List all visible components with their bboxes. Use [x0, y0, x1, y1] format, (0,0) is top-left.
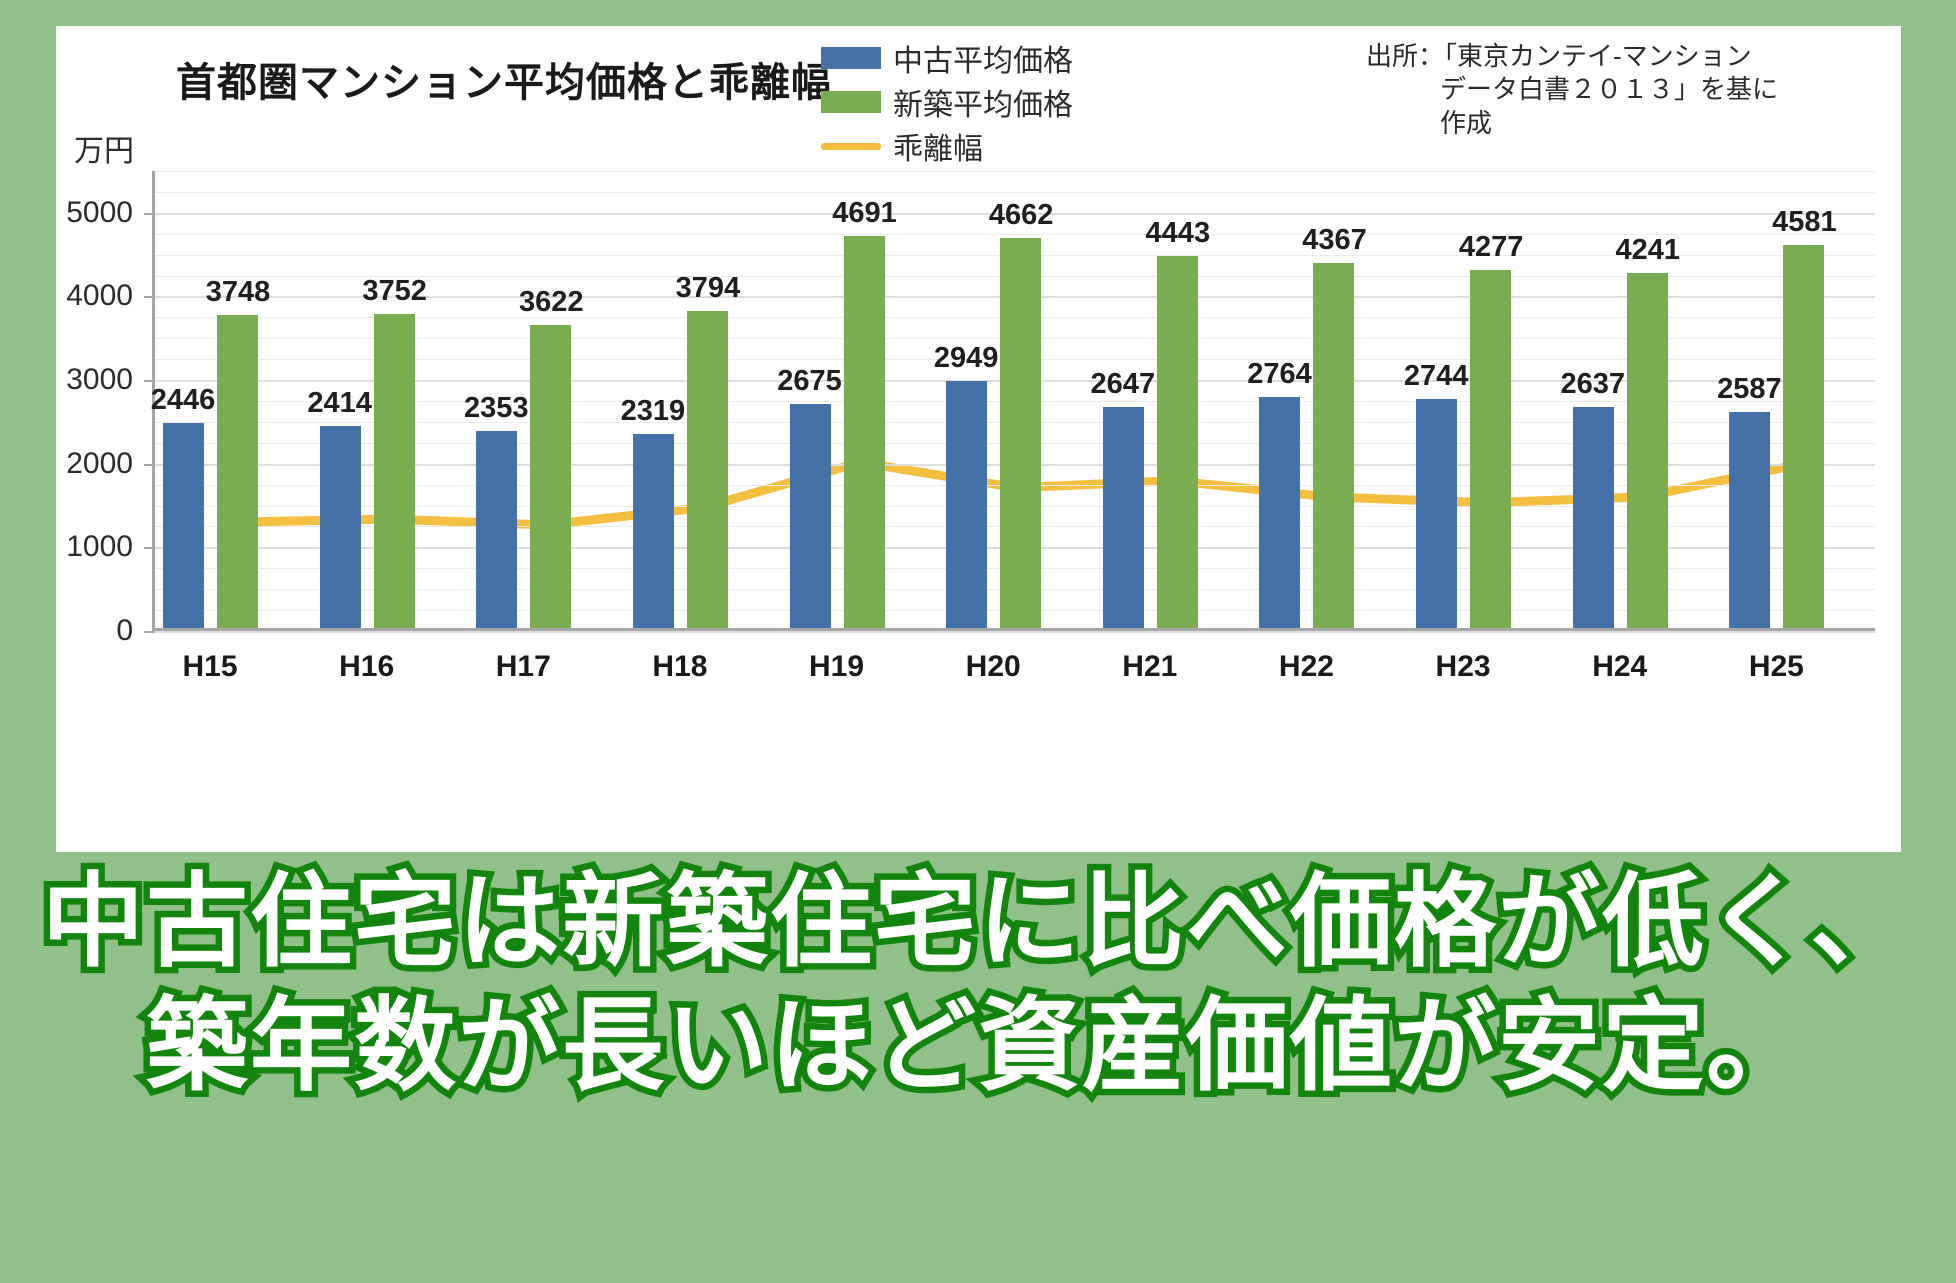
caption-line-2: 築年数が長いほど資産価値が安定。 [0, 984, 1956, 1108]
bar-value-label: 2446 [151, 384, 216, 417]
bar-value-label: 3748 [206, 276, 271, 309]
bar-new-price [844, 236, 885, 628]
y-axis-tick-mark [144, 213, 155, 215]
bar-new-price [1313, 263, 1354, 628]
bar-used-price [633, 434, 674, 628]
bar-used-price [1729, 412, 1770, 628]
bar-new-price [1470, 270, 1511, 628]
bar-value-label: 4691 [832, 197, 897, 230]
bar-new-price [1000, 238, 1041, 628]
legend-item-new-price: 新築平均価格 [821, 80, 1111, 124]
y-axis-tick-label: 5000 [66, 196, 133, 230]
chart-card: 首都圏マンション平均価格と乖離幅 中古平均価格 新築平均価格 乖離幅 出所：「東… [56, 26, 1901, 852]
bar-used-price [476, 431, 517, 628]
bar-value-label: 2647 [1091, 368, 1156, 401]
source-note-line-3: 作成 [1366, 107, 1866, 140]
source-note-line-1: 出所：「東京カンテイ‐マンション [1366, 40, 1866, 73]
bar-value-label: 4277 [1459, 231, 1524, 264]
bar-used-price [790, 404, 831, 628]
bar-used-price [1416, 399, 1457, 628]
category-group: 26754691H19 [782, 171, 939, 628]
bar-used-price [1259, 397, 1300, 628]
category-group: 27644367H22 [1251, 171, 1408, 628]
x-axis-category-label: H18 [652, 650, 707, 684]
x-axis-category-label: H22 [1279, 650, 1334, 684]
y-axis-unit-label: 万円 [74, 126, 134, 170]
x-axis-category-label: H21 [1122, 650, 1177, 684]
category-group: 29494662H20 [938, 171, 1095, 628]
bar-new-price [530, 325, 571, 628]
legend-swatch-new-price [821, 91, 881, 113]
legend-label-gap: 乖離幅 [893, 124, 983, 168]
bar-value-label: 4443 [1146, 217, 1211, 250]
y-axis-tick-label: 2000 [66, 447, 133, 481]
legend-item-used-price: 中古平均価格 [821, 36, 1111, 80]
gridline [155, 631, 1875, 633]
bar-new-price [374, 314, 415, 628]
bar-value-label: 2353 [464, 392, 529, 425]
bar-value-label: 4662 [989, 199, 1054, 232]
legend-swatch-gap [821, 143, 881, 150]
x-axis-category-label: H19 [809, 650, 864, 684]
bar-value-label: 3622 [519, 286, 584, 319]
bar-value-label: 2414 [307, 387, 372, 420]
x-axis-category-label: H16 [339, 650, 394, 684]
y-axis-tick-label: 3000 [66, 363, 133, 397]
category-group: 27444277H23 [1408, 171, 1565, 628]
x-axis-category-label: H20 [966, 650, 1021, 684]
bar-value-label: 2319 [621, 395, 686, 428]
x-axis-category-label: H23 [1436, 650, 1491, 684]
source-note-line-2: データ白書２０１３」を基に [1366, 73, 1866, 106]
category-group: 26374241H24 [1565, 171, 1722, 628]
y-axis-tick-label: 0 [116, 614, 133, 648]
category-group: 24143752H16 [312, 171, 469, 628]
bar-value-label: 2587 [1717, 373, 1782, 406]
plot-area: 01000200030004000500024463748H1524143752… [152, 171, 1875, 631]
bar-value-label: 2744 [1404, 360, 1469, 393]
bar-value-label: 2637 [1560, 368, 1625, 401]
y-axis-tick-mark [144, 464, 155, 466]
y-axis-tick-mark [144, 631, 155, 633]
bar-value-label: 2949 [934, 342, 999, 375]
bar-value-label: 4367 [1302, 224, 1367, 257]
category-group: 24463748H15 [155, 171, 312, 628]
bar-used-price [320, 426, 361, 628]
y-axis-tick-label: 4000 [66, 279, 133, 313]
category-group: 25874581H25 [1721, 171, 1878, 628]
y-axis-tick-mark [144, 296, 155, 298]
bar-value-label: 4581 [1772, 206, 1837, 239]
bar-used-price [163, 423, 204, 628]
legend-label-used-price: 中古平均価格 [893, 36, 1073, 80]
y-axis-tick-mark [144, 380, 155, 382]
bar-new-price [687, 311, 728, 628]
category-group: 26474443H21 [1095, 171, 1252, 628]
caption-line-1: 中古住宅は新築住宅に比べ価格が低く、 [0, 860, 1956, 984]
source-note: 出所：「東京カンテイ‐マンション データ白書２０１３」を基に 作成 [1366, 40, 1866, 140]
x-axis-category-label: H17 [496, 650, 551, 684]
bar-new-price [1627, 273, 1668, 628]
x-axis-category-label: H24 [1592, 650, 1647, 684]
bar-used-price [1573, 407, 1614, 628]
bar-new-price [1783, 245, 1824, 628]
bar-used-price [1103, 407, 1144, 628]
bar-value-label: 4241 [1615, 234, 1680, 267]
chart-title: 首都圏マンション平均価格と乖離幅 [176, 50, 832, 108]
category-group: 23193794H18 [625, 171, 782, 628]
bar-value-label: 2764 [1247, 358, 1312, 391]
x-axis-category-label: H15 [182, 650, 237, 684]
y-axis-tick-mark [144, 547, 155, 549]
caption-block: 中古住宅は新築住宅に比べ価格が低く、 築年数が長いほど資産価値が安定。 [0, 860, 1956, 1109]
legend-swatch-used-price [821, 47, 881, 69]
bar-value-label: 3794 [676, 272, 741, 305]
y-axis-tick-label: 1000 [66, 530, 133, 564]
plot-region: 01000200030004000500024463748H1524143752… [152, 171, 1875, 631]
category-group: 23533622H17 [468, 171, 625, 628]
bar-used-price [946, 381, 987, 628]
bar-new-price [217, 315, 258, 628]
legend-item-gap: 乖離幅 [821, 124, 1111, 168]
chart-legend: 中古平均価格 新築平均価格 乖離幅 [821, 36, 1111, 168]
bar-new-price [1157, 256, 1198, 628]
x-axis-category-label: H25 [1749, 650, 1804, 684]
bar-value-label: 2675 [777, 365, 842, 398]
legend-label-new-price: 新築平均価格 [893, 80, 1073, 124]
bar-value-label: 3752 [362, 275, 427, 308]
